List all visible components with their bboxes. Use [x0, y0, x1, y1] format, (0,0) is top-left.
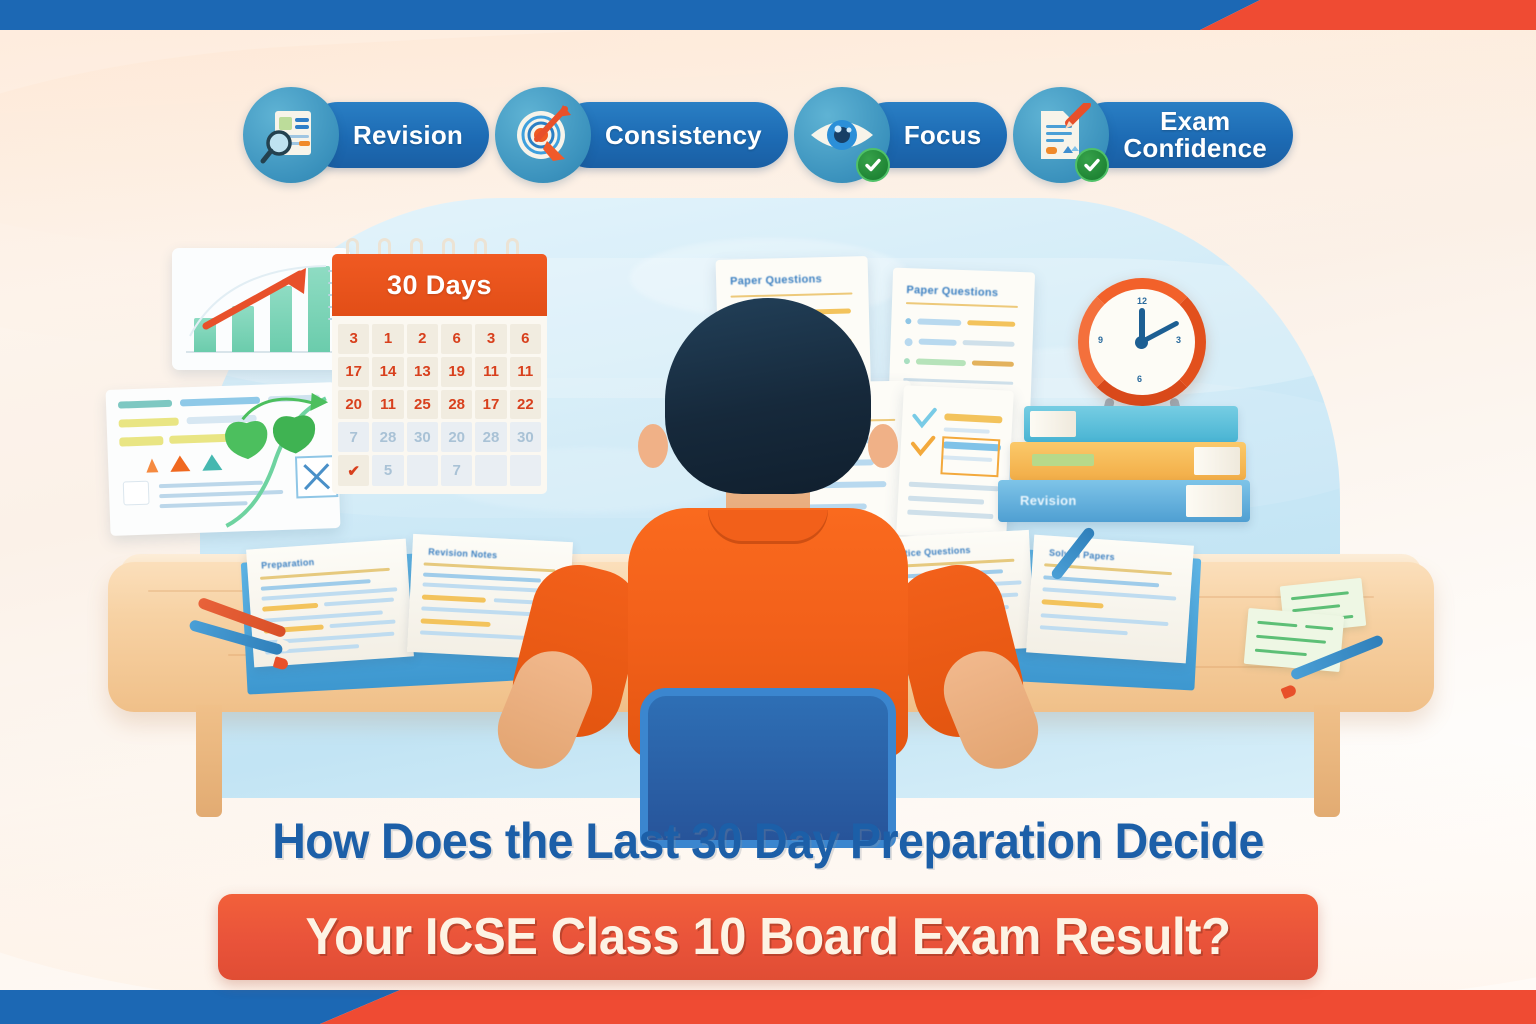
paper-title: Paper Questions: [906, 284, 998, 299]
calendar-day-cell: 20: [338, 390, 369, 420]
calendar-day-cell: [407, 455, 438, 486]
calendar-day-cell: ✔: [338, 455, 369, 486]
notes-diagram-card: [106, 382, 341, 536]
book-bottom: Revision: [998, 480, 1250, 522]
book-page: Solved Papers: [1026, 535, 1194, 664]
ear: [868, 424, 898, 468]
hair: [665, 298, 871, 494]
poster-canvas: 30 Days 31263617141319111120112528172272…: [0, 0, 1536, 1024]
calendar-day-cell: 1: [372, 324, 403, 354]
calendar-day-cell: [475, 455, 506, 486]
calendar-day-cell: 6: [510, 324, 541, 354]
calendar-day-cell: 3: [475, 324, 506, 354]
feature-badge-exam-confidence[interactable]: Exam Confidence: [1013, 86, 1293, 184]
feature-badge-label: Focus: [904, 122, 982, 149]
calendar-day-cell: 6: [441, 324, 472, 354]
calendar-day-cell: 11: [510, 357, 541, 387]
calendar-day-cell: 30: [407, 422, 438, 452]
check-circle-icon: [856, 148, 890, 182]
shirt-collar: [708, 510, 828, 544]
bottom-accent-red: [300, 990, 1536, 1024]
illustration-scene: 30 Days 31263617141319111120112528172272…: [0, 170, 1536, 810]
feature-badge-consistency[interactable]: Consistency: [495, 86, 788, 184]
page-heading: Preparation: [261, 557, 315, 571]
calendar-day-cell: 7: [441, 455, 472, 486]
feature-badge-pill[interactable]: Consistency: [557, 102, 788, 168]
book-middle: [1010, 442, 1246, 480]
headline-line-1: How Does the Last 30 Day Preparation Dec…: [54, 812, 1482, 870]
calendar-day-cell: 22: [510, 390, 541, 420]
feature-badge-label: Revision: [353, 122, 463, 149]
calendar-day-cell: 17: [338, 357, 369, 387]
calendar-header: 30 Days: [332, 254, 547, 316]
headline-line-2: Your ICSE Class 10 Board Exam Result?: [305, 907, 1230, 967]
page-heading: Revision Notes: [428, 547, 498, 561]
paper-title: Paper Questions: [730, 273, 822, 287]
top-accent-bar: [0, 0, 1536, 30]
calendar-day-cell: 7: [338, 422, 369, 452]
bottom-accent-bar: [0, 990, 1536, 1024]
desk-leg: [1314, 705, 1340, 817]
feature-badge-focus[interactable]: Focus: [794, 86, 1008, 184]
calendar-day-cell: 3: [338, 324, 369, 354]
check-circle-icon: [1075, 148, 1109, 182]
calendar-day-cell: 13: [407, 357, 438, 387]
headline-ribbon: Your ICSE Class 10 Board Exam Result?: [218, 894, 1318, 980]
calendar-day-cell: 2: [407, 324, 438, 354]
calendar-day-cell: 20: [441, 422, 472, 452]
feature-badge-label: Consistency: [605, 122, 762, 149]
student-figure: [598, 298, 938, 748]
calendar-day-cell: 19: [441, 357, 472, 387]
calendar-day-cell: 17: [475, 390, 506, 420]
growth-chart-card: [172, 248, 350, 370]
alarm-clock: 12 6 3 9: [1078, 278, 1206, 406]
calendar-day-cell: 28: [372, 422, 403, 452]
calendar-day-cell: 5: [372, 455, 403, 486]
book-label: Revision: [1020, 493, 1077, 508]
calendar-day-cell: 28: [475, 422, 506, 452]
calendar-day-cell: 11: [372, 390, 403, 420]
calendar-header-label: 30 Days: [387, 270, 492, 301]
calendar-day-cell: 25: [407, 390, 438, 420]
feature-badge-revision[interactable]: Revision: [243, 86, 489, 184]
document-magnifier-icon: [243, 87, 339, 183]
top-accent-blue: [0, 0, 1260, 30]
calendar-day-cell: 30: [510, 422, 541, 452]
calendar-day-cell: 14: [372, 357, 403, 387]
calendar-day-cell: 28: [441, 390, 472, 420]
desk-leg: [196, 705, 222, 817]
book-top: [1024, 406, 1238, 442]
calendar-grid: 3126361714131911112011252817227283020283…: [332, 316, 547, 494]
calendar-30-days: 30 Days 31263617141319111120112528172272…: [332, 254, 547, 494]
ear: [638, 424, 668, 468]
feature-badge-row: Revision Consistency Focus: [0, 86, 1536, 184]
headline-block: How Does the Last 30 Day Preparation Dec…: [0, 812, 1536, 870]
target-dart-icon: [495, 87, 591, 183]
feature-badge-label: Exam Confidence: [1123, 108, 1267, 162]
calendar-day-cell: 11: [475, 357, 506, 387]
calendar-day-cell: [510, 455, 541, 486]
